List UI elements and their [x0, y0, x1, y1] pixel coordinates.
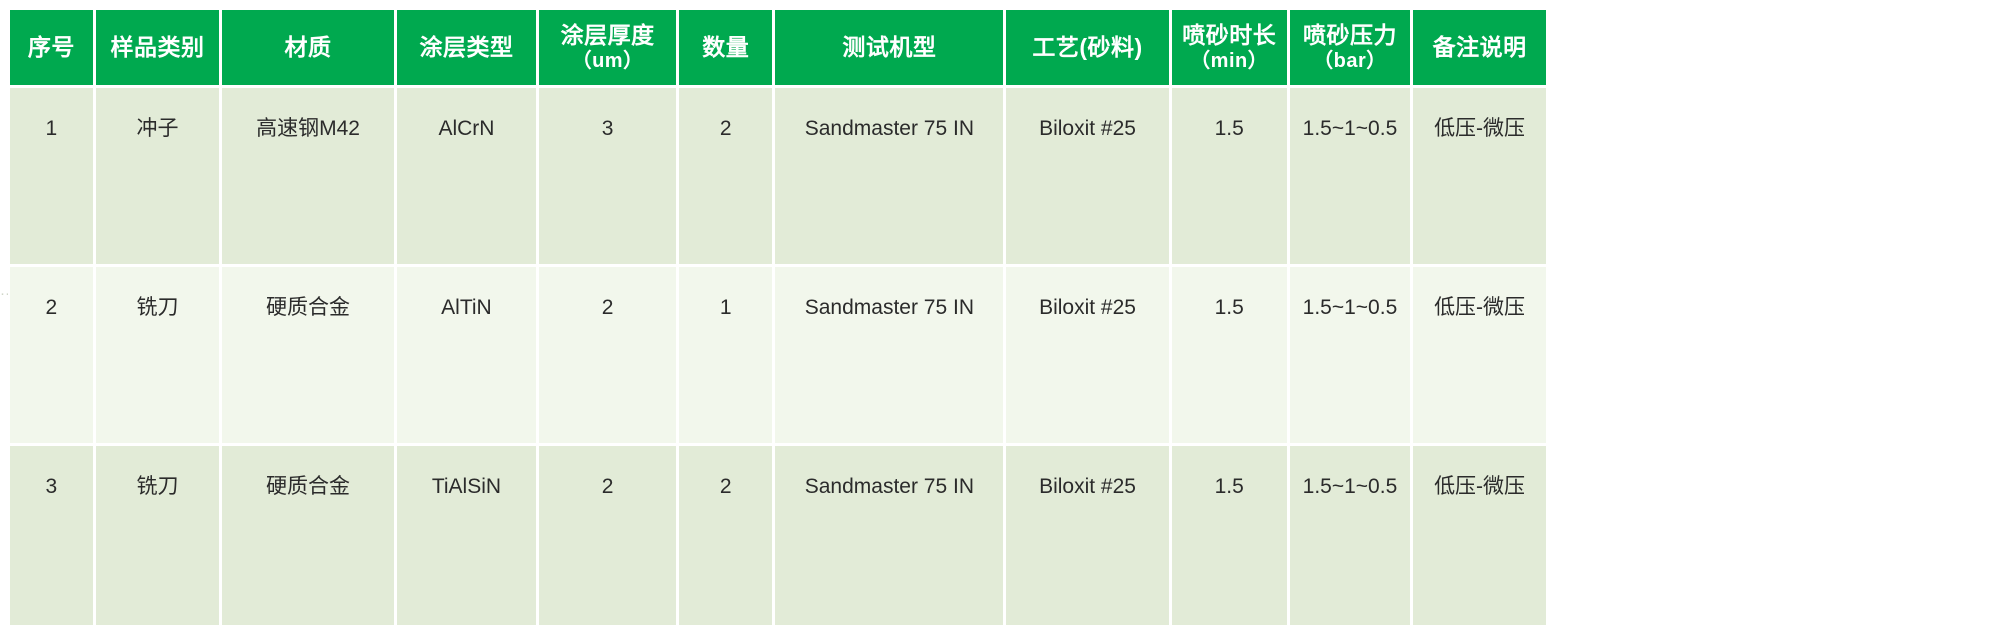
column-header-coating-thickness: 涂层厚度 （um）: [539, 10, 679, 88]
cell-coat: TiAlSiN: [397, 446, 539, 625]
column-header-coating-thickness-unit: （um）: [541, 49, 674, 74]
cell-mat: 硬质合金: [222, 446, 397, 625]
cell-time: 1.5: [1172, 267, 1290, 446]
cell-machine: Sandmaster 75 IN: [775, 88, 1006, 267]
column-header-seq: 序号: [10, 10, 96, 88]
coating-blast-test-spec-table: 序号 样品类别 材质 涂层类型 涂层厚度 （um） 数量: [10, 10, 1546, 625]
cell-press: 1.5~1~0.5: [1290, 88, 1413, 267]
cell-machine: Sandmaster 75 IN: [775, 267, 1006, 446]
column-header-quantity-label: 数量: [702, 34, 749, 60]
table-header: 序号 样品类别 材质 涂层类型 涂层厚度 （um） 数量: [10, 10, 1546, 88]
column-header-coating-type: 涂层类型: [397, 10, 539, 88]
cell-thick: 2: [539, 446, 679, 625]
column-header-coating-type-label: 涂层类型: [419, 34, 513, 60]
column-header-blast-time-label: 喷砂时长: [1182, 22, 1276, 48]
cell-press: 1.5~1~0.5: [1290, 446, 1413, 625]
cell-machine: Sandmaster 75 IN: [775, 446, 1006, 625]
cell-process: Biloxit #25: [1006, 267, 1171, 446]
cell-process: Biloxit #25: [1006, 88, 1171, 267]
column-header-remark: 备注说明: [1413, 10, 1546, 88]
column-header-remark-label: 备注说明: [1433, 34, 1527, 60]
column-header-blast-pressure-unit: （bar）: [1292, 49, 1408, 74]
cell-note: 低压-微压: [1413, 446, 1546, 625]
cell-seq: 2: [10, 267, 96, 446]
table-row: 3 铣刀 硬质合金 TiAlSiN 2 2 Sandmaster 75 IN B…: [10, 446, 1546, 625]
cell-seq: 3: [10, 446, 96, 625]
cell-thick: 2: [539, 267, 679, 446]
column-header-material: 材质: [222, 10, 397, 88]
cell-coat: AlCrN: [397, 88, 539, 267]
cell-cat: 冲子: [96, 88, 223, 267]
edge-artifact-mark: ··: [0, 286, 8, 320]
column-header-test-machine: 测试机型: [775, 10, 1006, 88]
cell-qty: 1: [679, 267, 775, 446]
column-header-quantity: 数量: [679, 10, 775, 88]
column-header-blast-pressure-label: 喷砂压力: [1303, 22, 1397, 48]
cell-thick: 3: [539, 88, 679, 267]
cell-qty: 2: [679, 88, 775, 267]
cell-note: 低压-微压: [1413, 88, 1546, 267]
cell-mat: 高速钢M42: [222, 88, 397, 267]
column-header-seq-label: 序号: [28, 34, 75, 60]
cell-mat: 硬质合金: [222, 267, 397, 446]
column-header-blast-pressure: 喷砂压力 （bar）: [1290, 10, 1413, 88]
spec-table-container: 序号 样品类别 材质 涂层类型 涂层厚度 （um） 数量: [10, 10, 2005, 627]
column-header-process-media: 工艺(砂料): [1006, 10, 1171, 88]
cell-cat: 铣刀: [96, 446, 223, 625]
table-body: 1 冲子 高速钢M42 AlCrN 3 2 Sandmaster 75 IN B…: [10, 88, 1546, 625]
column-header-coating-thickness-label: 涂层厚度: [561, 22, 655, 48]
column-header-blast-time: 喷砂时长 （min）: [1172, 10, 1290, 88]
column-header-sample-category: 样品类别: [96, 10, 223, 88]
cell-time: 1.5: [1172, 88, 1290, 267]
column-header-material-label: 材质: [285, 34, 332, 60]
cell-coat: AlTiN: [397, 267, 539, 446]
cell-note: 低压-微压: [1413, 267, 1546, 446]
column-header-process-media-label: 工艺(砂料): [1032, 34, 1142, 60]
cell-cat: 铣刀: [96, 267, 223, 446]
table-header-row: 序号 样品类别 材质 涂层类型 涂层厚度 （um） 数量: [10, 10, 1546, 88]
table-row: 2 铣刀 硬质合金 AlTiN 2 1 Sandmaster 75 IN Bil…: [10, 267, 1546, 446]
cell-process: Biloxit #25: [1006, 446, 1171, 625]
column-header-blast-time-unit: （min）: [1174, 49, 1285, 74]
cell-press: 1.5~1~0.5: [1290, 267, 1413, 446]
cell-seq: 1: [10, 88, 96, 267]
column-header-test-machine-label: 测试机型: [842, 34, 936, 60]
cell-qty: 2: [679, 446, 775, 625]
table-row: 1 冲子 高速钢M42 AlCrN 3 2 Sandmaster 75 IN B…: [10, 88, 1546, 267]
column-header-sample-category-label: 样品类别: [110, 34, 204, 60]
cell-time: 1.5: [1172, 446, 1290, 625]
